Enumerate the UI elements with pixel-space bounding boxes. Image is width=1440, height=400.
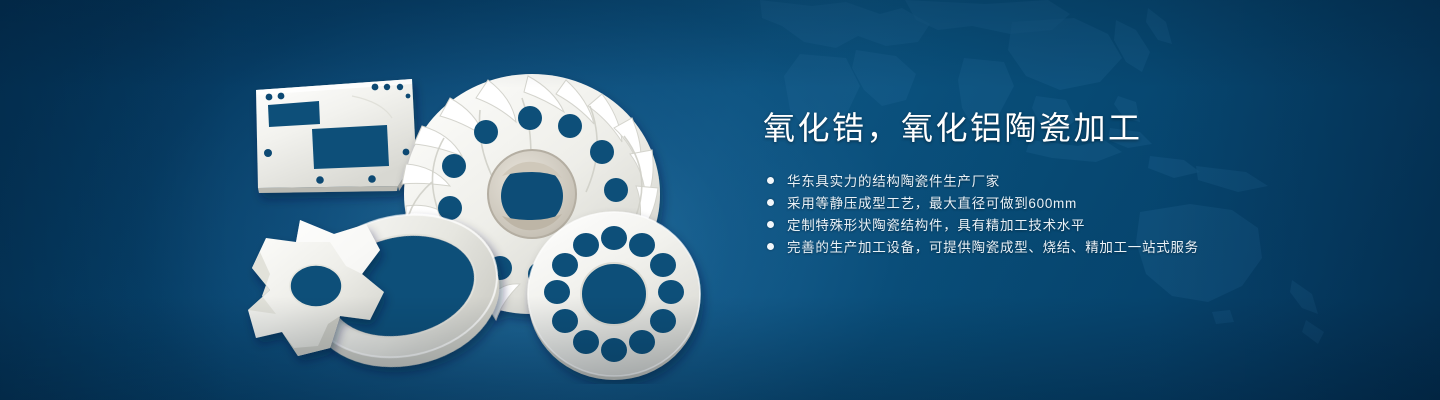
feature-text: 华东具实力的结构陶瓷件生产厂家 <box>787 170 1000 190</box>
banner-text-column: 氧化锆，氧化铝陶瓷加工 华东具实力的结构陶瓷件生产厂家 采用等静压成型工艺，最大… <box>763 108 1383 257</box>
part-perforated-disc <box>528 212 700 380</box>
bullet-dot-icon <box>767 243 774 250</box>
promo-banner: 氧化锆，氧化铝陶瓷加工 华东具实力的结构陶瓷件生产厂家 采用等静压成型工艺，最大… <box>0 0 1440 400</box>
list-item: 定制特殊形状陶瓷结构件，具有精加工技术水平 <box>763 213 1383 235</box>
feature-text: 完善的生产加工设备，可提供陶瓷成型、烧结、精加工一站式服务 <box>787 236 1199 256</box>
bullet-dot-icon <box>767 221 774 228</box>
list-item: 华东具实力的结构陶瓷件生产厂家 <box>763 169 1383 191</box>
feature-list: 华东具实力的结构陶瓷件生产厂家 采用等静压成型工艺，最大直径可做到600mm 定… <box>763 169 1383 257</box>
feature-text: 定制特殊形状陶瓷结构件，具有精加工技术水平 <box>787 214 1085 234</box>
part-rectangular-plate <box>256 79 417 193</box>
list-item: 完善的生产加工设备，可提供陶瓷成型、烧结、精加工一站式服务 <box>763 235 1383 257</box>
banner-title: 氧化锆，氧化铝陶瓷加工 <box>763 108 1383 148</box>
bullet-dot-icon <box>767 177 774 184</box>
bullet-dot-icon <box>767 199 774 206</box>
ceramic-parts-photo <box>232 34 728 384</box>
feature-text: 采用等静压成型工艺，最大直径可做到600mm <box>787 192 1077 212</box>
list-item: 采用等静压成型工艺，最大直径可做到600mm <box>763 191 1383 213</box>
